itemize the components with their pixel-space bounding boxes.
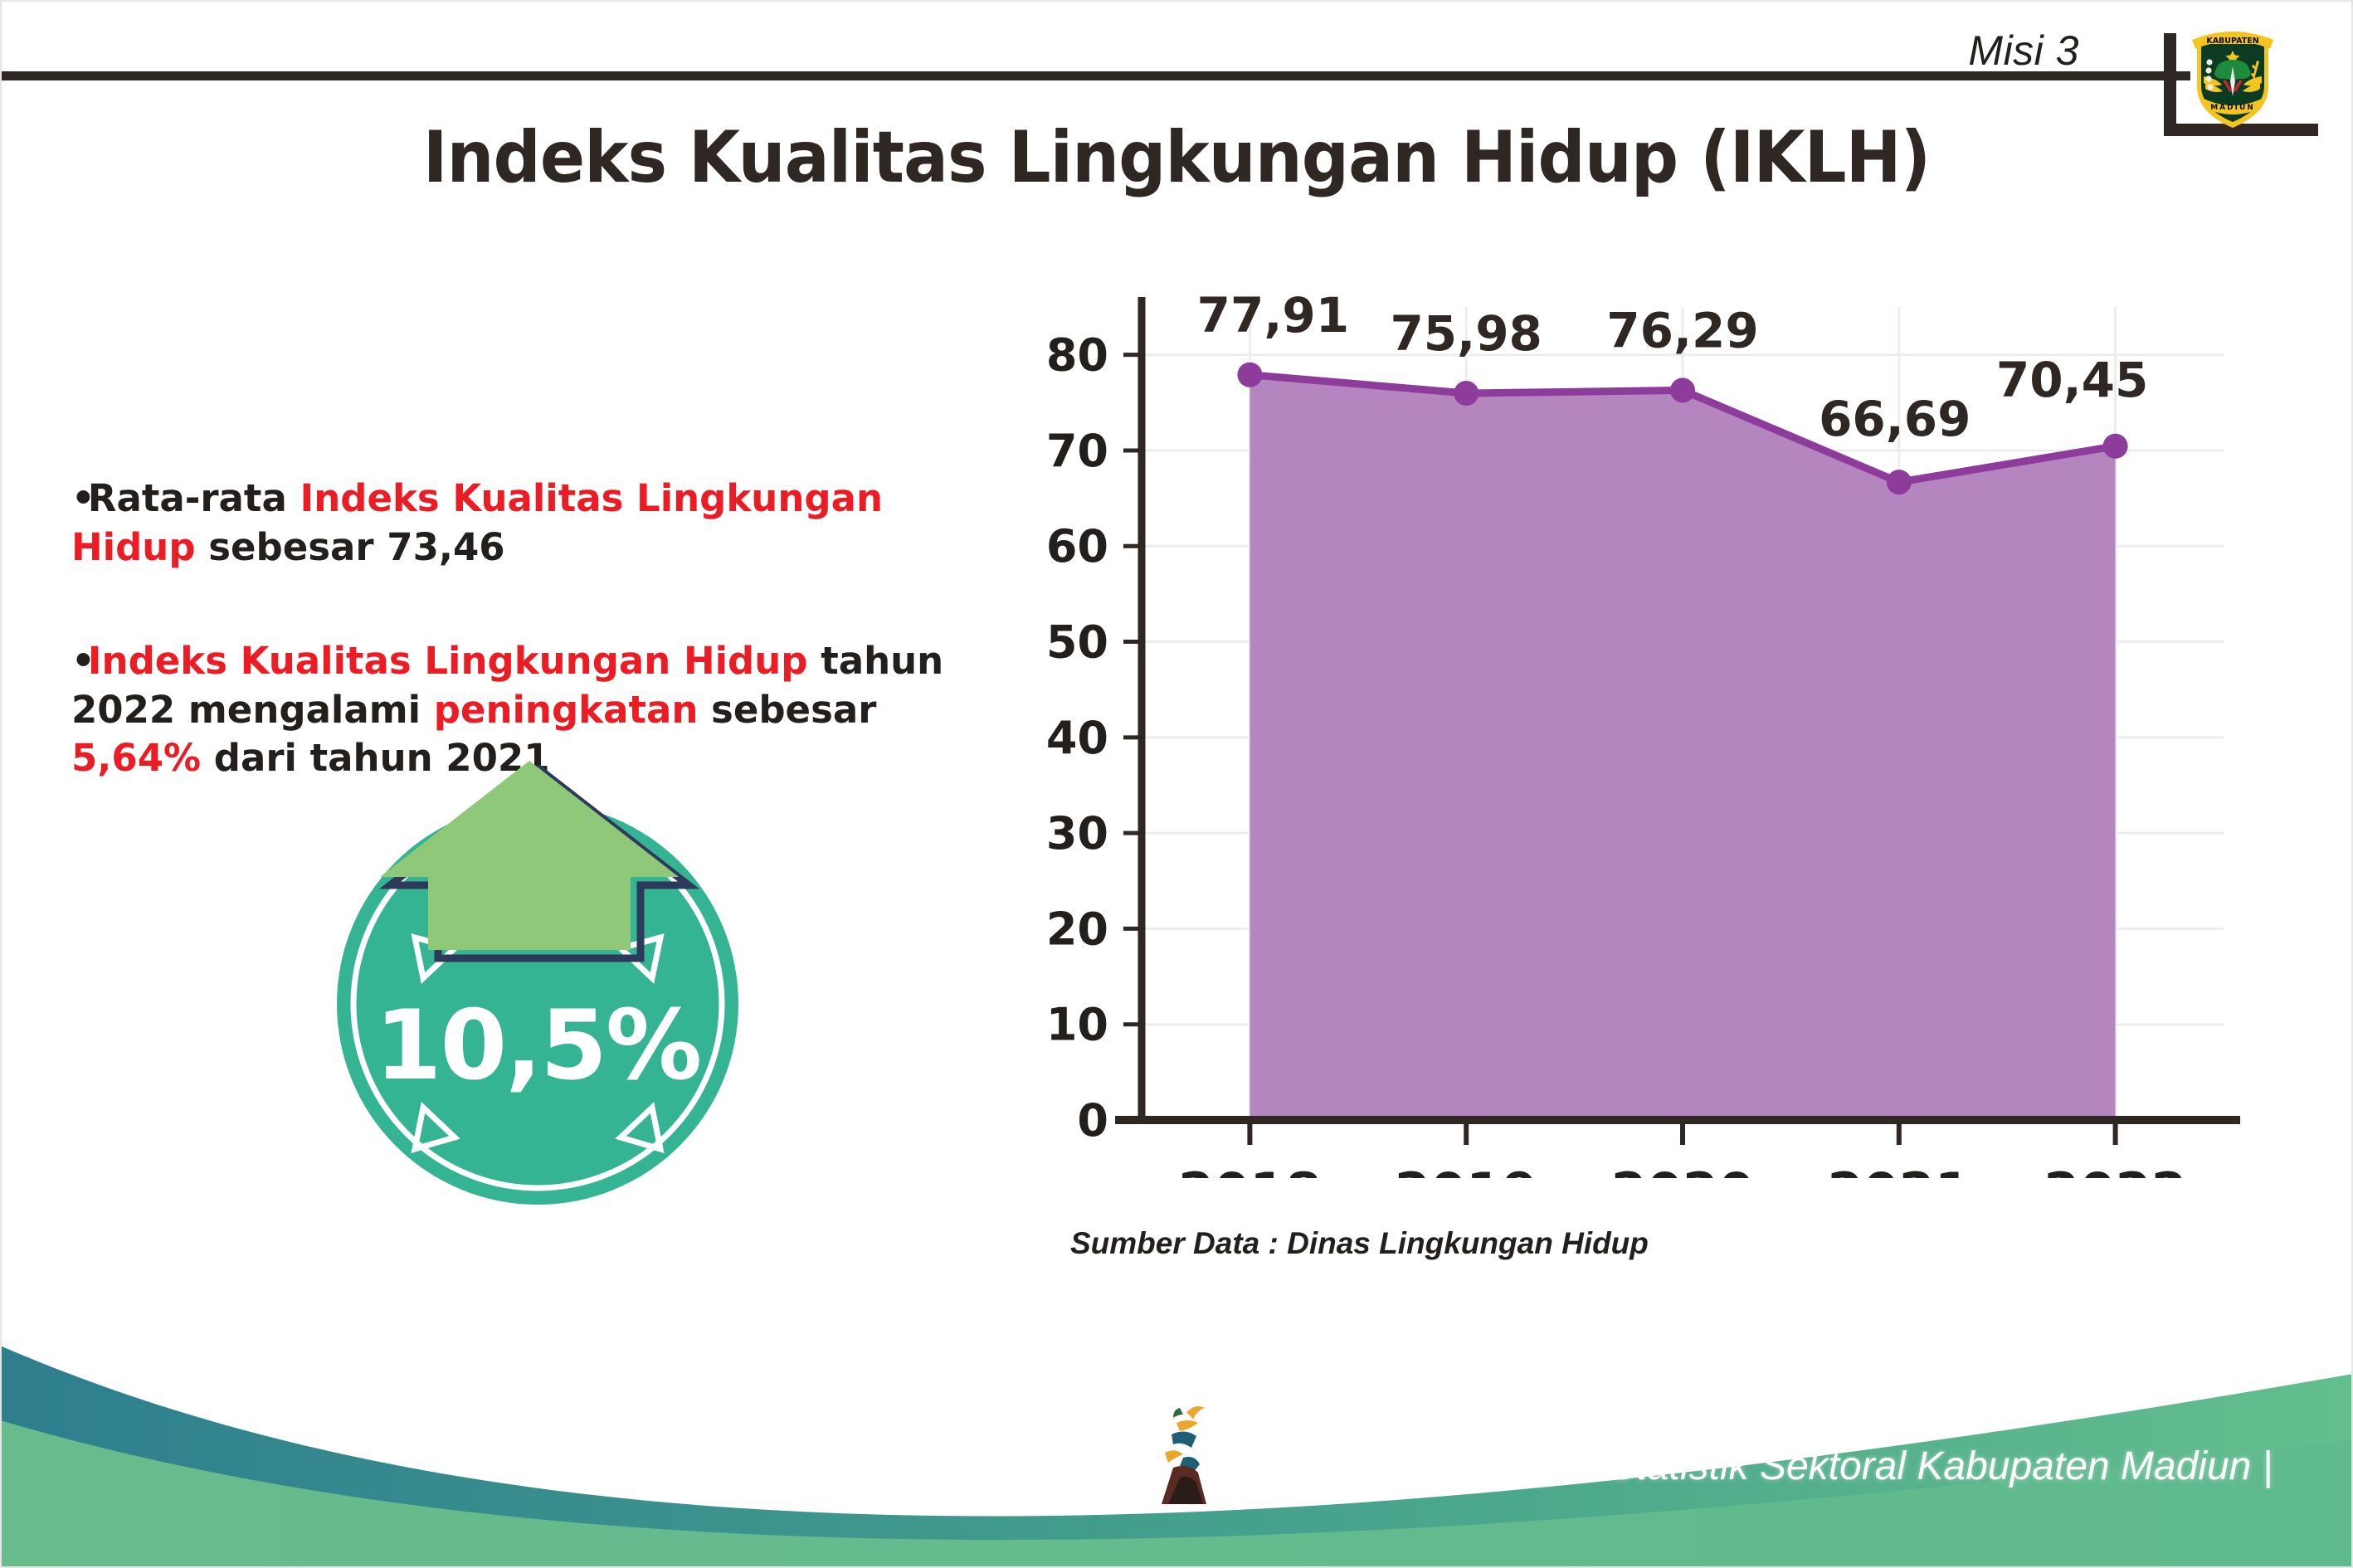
chart-area-fill bbox=[1250, 375, 2115, 1120]
chart-canvas: 01020304050607080 20182019202020212022 7… bbox=[979, 290, 2240, 1178]
chart-source-note: Sumber Data : Dinas Lingkungan Hidup bbox=[1070, 1226, 1649, 1261]
bullet2-highlight-indicator: Indeks Kualitas Lingkungan Hidup bbox=[88, 639, 808, 683]
svg-text:2021: 2021 bbox=[1828, 1161, 1971, 1178]
header-divider-rule bbox=[0, 71, 2190, 80]
svg-text:10: 10 bbox=[1046, 999, 1108, 1051]
svg-text:50: 50 bbox=[1046, 616, 1108, 669]
svg-text:75,98: 75,98 bbox=[1390, 305, 1542, 362]
badge-graphic bbox=[322, 751, 753, 1207]
misi-label: Misi 3 bbox=[1968, 27, 2079, 75]
bullet2-text-b: sebesar bbox=[698, 688, 876, 732]
bullet-marker-icon: • bbox=[71, 475, 88, 523]
bullet-item-average: •Rata-rata Indeks Kualitas Lingkungan Hi… bbox=[71, 475, 951, 572]
svg-text:30: 30 bbox=[1046, 807, 1108, 859]
svg-text:70: 70 bbox=[1046, 425, 1108, 477]
svg-text:60: 60 bbox=[1046, 520, 1108, 572]
bullet2-highlight-percent: 5,64% bbox=[71, 736, 201, 780]
svg-text:MADIUN: MADIUN bbox=[2210, 104, 2255, 112]
bullet1-post-text: sebesar 73,46 bbox=[196, 525, 505, 569]
badge-percentage-value: 10,5% bbox=[322, 990, 753, 1102]
bullet2-highlight-peningkatan: peningkatan bbox=[434, 688, 699, 732]
svg-text:80: 80 bbox=[1046, 329, 1108, 382]
svg-text:0: 0 bbox=[1077, 1094, 1108, 1147]
footer-caption: Media Infografis Data Statistik Sektoral… bbox=[1220, 1444, 2273, 1489]
svg-text:20: 20 bbox=[1046, 903, 1108, 955]
svg-text:2019: 2019 bbox=[1395, 1161, 1538, 1178]
page-title: Indeks Kualitas Lingkungan Hidup (IKLH) bbox=[82, 116, 2270, 199]
bullet1-pre-text: Rata-rata bbox=[88, 476, 300, 520]
svg-text:76,29: 76,29 bbox=[1606, 302, 1758, 358]
chart-y-axis: 01020304050607080 bbox=[1046, 329, 1142, 1147]
kabupaten-madiun-emblem-icon: KABUPATEN MADIUN bbox=[2184, 15, 2282, 131]
svg-text:77,91: 77,91 bbox=[1197, 290, 1349, 343]
chart-x-axis: 20182019202020212022 bbox=[1178, 1120, 2187, 1178]
increase-badge: 10,5% bbox=[322, 751, 753, 1207]
svg-text:2020: 2020 bbox=[1611, 1161, 1755, 1178]
svg-text:70,45: 70,45 bbox=[1996, 352, 2148, 408]
svg-text:40: 40 bbox=[1046, 712, 1108, 764]
svg-text:66,69: 66,69 bbox=[1819, 391, 1971, 447]
iklh-area-chart: 01020304050607080 20182019202020212022 7… bbox=[979, 290, 2240, 1178]
svg-text:2022: 2022 bbox=[2044, 1161, 2187, 1178]
svg-text:KABUPATEN: KABUPATEN bbox=[2206, 37, 2258, 46]
svg-text:2018: 2018 bbox=[1178, 1161, 1322, 1178]
infographic-slide: Misi 3 KABUPATEN M bbox=[0, 0, 2353, 1568]
bullet-marker-icon: • bbox=[71, 637, 88, 686]
